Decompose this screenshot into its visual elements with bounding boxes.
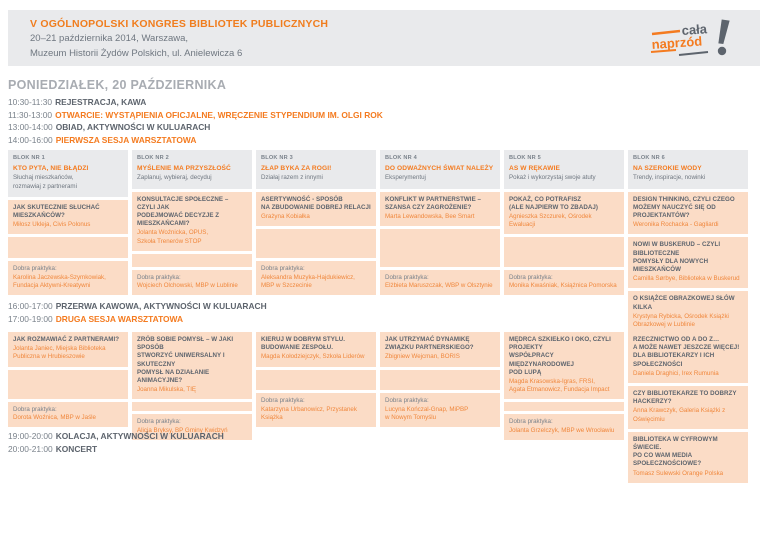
block-number: BLOK NR 5 — [509, 154, 619, 162]
good-practice-cell[interactable]: Dobra praktyka:Lucyna Kończal-Gnap, MiPB… — [380, 393, 500, 427]
session-cell[interactable]: ASERTYWNOŚĆ - SPOSÓBNA ZBUDOWANIE DOBREJ… — [256, 192, 376, 227]
session-presenter: Miłosz Ukleja, Civis Polonus — [13, 221, 123, 229]
block-column: BLOK NR 6NA SZEROKIE WODYTrendy, inspira… — [628, 150, 748, 295]
block-header: BLOK NR 2MYŚLENIE MA PRZYSZŁOŚĆZaplanuj,… — [132, 150, 252, 189]
session-cell[interactable]: JAK UTRZYMAĆ DYNAMIKĘZWIĄZKU PARTNERSKIE… — [380, 332, 500, 367]
schedule-row: 11:30-13:00OTWARCIE: WYSTĄPIENIA OFICJAL… — [8, 109, 383, 122]
good-practice-presenter: Katarzyna Urbanowicz, Przystanek Książka — [261, 406, 371, 422]
session-presenter: Magda Kołodziejczyk, Szkoła Liderów — [261, 353, 371, 361]
good-practice-label: Dobra praktyka: — [261, 397, 371, 405]
session-title: KIERUJ W DOBRYM STYLU.BUDOWANIE ZESPOŁU. — [261, 336, 371, 352]
session-one-grid: BLOK NR 1KTO PYTA, NIE BŁĄDZISłuchaj mie… — [8, 150, 760, 295]
block-title: NA SZEROKIE WODY — [633, 165, 743, 173]
block-number: BLOK NR 1 — [13, 154, 123, 162]
session-title: JAK ROZMAWIAĆ Z PARTNERAMI? — [13, 336, 123, 344]
block-header: BLOK NR 6NA SZEROKIE WODYTrendy, inspira… — [628, 150, 748, 189]
good-practice-label: Dobra praktyka: — [261, 265, 371, 273]
good-practice-presenter: Karolina Jaczewska-Szymkowiak,Fundacja A… — [13, 274, 123, 290]
block-column: KIERUJ W DOBRYM STYLU.BUDOWANIE ZESPOŁU.… — [256, 332, 376, 427]
schedule-list-afternoon: 16:00-17:00PRZERWA KAWOWA, AKTYWNOŚCI W … — [8, 300, 267, 325]
session-title: JAK UTRZYMAĆ DYNAMIKĘZWIĄZKU PARTNERSKIE… — [385, 336, 495, 352]
session-cell[interactable]: CZY BIBLIOTEKARZE TO DOBRZY HACKERZY?Ann… — [628, 386, 748, 429]
cell-spacer — [132, 402, 252, 411]
cell-spacer — [132, 254, 252, 267]
schedule-time: 19:00-20:00 — [8, 431, 53, 441]
session-cell[interactable]: KONFLIKT W PARTNERSTWIE –SZANSA CZY ZAGR… — [380, 192, 500, 227]
block-title: DO ODWAŻNYCH ŚWIAT NALEŻY — [385, 165, 495, 173]
schedule-time: 16:00-17:00 — [8, 301, 53, 311]
session-title: ASERTYWNOŚĆ - SPOSÓBNA ZBUDOWANIE DOBREJ… — [261, 196, 371, 212]
day-heading: PONIEDZIAŁEK, 20 PAŹDZIERNIKA — [8, 78, 226, 92]
cell-spacer — [504, 237, 624, 266]
session-title: KONFLIKT W PARTNERSTWIE –SZANSA CZY ZAGR… — [385, 196, 495, 212]
session-presenter: Joanna Mikulska, TIĘ — [137, 386, 247, 394]
cell-spacer — [8, 237, 128, 258]
cell-spacer — [380, 370, 500, 391]
session-title: KONSULTACJE SPOŁECZNE – CZYLI JAKPODEJMO… — [137, 196, 247, 229]
good-practice-label: Dobra praktyka: — [13, 265, 123, 273]
session-cell[interactable]: ZRÓB SOBIE POMYSŁ – W JAKI SPOSÓBSTWORZY… — [132, 332, 252, 399]
block-header: BLOK NR 5AS W RĘKAWIEPokaż i wykorzystaj… — [504, 150, 624, 189]
block-column: BLOK NR 1KTO PYTA, NIE BŁĄDZISłuchaj mie… — [8, 150, 128, 295]
good-practice-cell[interactable]: Dobra praktyka:Elżbieta Maruszczak, WBP … — [380, 270, 500, 295]
cala-naprzod-logo: cała naprzód — [646, 18, 738, 60]
schedule-time: 14:00-16:00 — [8, 135, 53, 145]
good-practice-presenter: Dorota Woźnica, MBP w Jaśle — [13, 414, 123, 422]
session-title: JAK SKUTECZNIE SŁUCHAĆMIESZKAŃCÓW? — [13, 204, 123, 220]
block-column: MĘDRCA SZKIEŁKO I OKO, CZYLI PROJEKTYWSP… — [504, 332, 624, 427]
block-title: ZŁAP BYKA ZA ROGI! — [261, 165, 371, 173]
good-practice-cell[interactable]: Dobra praktyka:Monika Kwaśniak, Książnic… — [504, 270, 624, 295]
schedule-label: PIERWSZA SESJA WARSZTATOWA — [56, 135, 197, 145]
page-header: V OGÓLNOPOLSKI KONGRES BIBLIOTEK PUBLICZ… — [8, 10, 760, 66]
good-practice-cell[interactable]: Dobra praktyka:Jolanta Grzelczyk, MBP we… — [504, 414, 624, 439]
schedule-label: REJESTRACJA, KAWA — [55, 97, 146, 107]
good-practice-label: Dobra praktyka: — [385, 397, 495, 405]
good-practice-cell[interactable]: Dobra praktyka:Wojciech Olchowski, MBP w… — [132, 270, 252, 295]
block-title: MYŚLENIE MA PRZYSZŁOŚĆ — [137, 165, 247, 173]
schedule-row: 10:30-11:30REJESTRACJA, KAWA — [8, 96, 383, 109]
block-description: Trendy, inspiracje, nowinki — [633, 174, 743, 182]
good-practice-cell[interactable]: Dobra praktyka:Aleksandra Muzyka-Hajduki… — [256, 261, 376, 295]
session-title: MĘDRCA SZKIEŁKO I OKO, CZYLI PROJEKTYWSP… — [509, 336, 619, 377]
session-cell[interactable]: JAK SKUTECZNIE SŁUCHAĆMIESZKAŃCÓW?Miłosz… — [8, 200, 128, 235]
session-cell[interactable]: RZECZNICTWO OD A DO Z…A MOŻE NAWET JESZC… — [628, 332, 748, 383]
session-presenter: Zbigniew Wejcman, BORIS — [385, 353, 495, 361]
session-cell[interactable]: BIBLIOTEKA W CYFROWYM ŚWIECIE.PO CO WAM … — [628, 432, 748, 483]
good-practice-presenter: Aleksandra Muzyka-Hajdukiewicz,MBP w Szc… — [261, 274, 371, 290]
block-title: KTO PYTA, NIE BŁĄDZI — [13, 165, 123, 173]
session-cell[interactable]: MĘDRCA SZKIEŁKO I OKO, CZYLI PROJEKTYWSP… — [504, 332, 624, 399]
schedule-time: 13:00-14:00 — [8, 122, 53, 132]
session-cell[interactable]: KIERUJ W DOBRYM STYLU.BUDOWANIE ZESPOŁU.… — [256, 332, 376, 367]
session-cell[interactable]: KONSULTACJE SPOŁECZNE – CZYLI JAKPODEJMO… — [132, 192, 252, 251]
cell-spacer — [504, 402, 624, 411]
session-title: DESIGN THINKING, CZYLI CZEGOMOŻEMY NAUCZ… — [633, 196, 743, 221]
block-description: Pokaż i wykorzystaj swoje atuty — [509, 174, 619, 182]
block-title: AS W RĘKAWIE — [509, 165, 619, 173]
session-title: CZY BIBLIOTEKARZE TO DOBRZY HACKERZY? — [633, 390, 743, 406]
block-column: RZECZNICTWO OD A DO Z…A MOŻE NAWET JESZC… — [628, 332, 748, 427]
schedule-list-morning: 10:30-11:30REJESTRACJA, KAWA11:30-13:00O… — [8, 96, 383, 146]
session-presenter: Magda Krasowska-Igras, FRSI,Agata Etmano… — [509, 378, 619, 394]
block-number: BLOK NR 4 — [385, 154, 495, 162]
schedule-time: 10:30-11:30 — [8, 97, 52, 107]
schedule-row: 17:00-19:00DRUGA SESJA WARSZTATOWA — [8, 313, 267, 326]
session-title: NOWI W BUSKERUD – CZYLI BIBLIOTECZNEPOMY… — [633, 241, 743, 274]
session-presenter: Marta Lewandowska, Bee Smart — [385, 213, 495, 221]
good-practice-label: Dobra praktyka: — [13, 406, 123, 414]
cell-spacer — [256, 229, 376, 258]
session-title: RZECZNICTWO OD A DO Z…A MOŻE NAWET JESZC… — [633, 336, 743, 369]
schedule-time: 11:30-13:00 — [8, 110, 52, 120]
session-title: BIBLIOTEKA W CYFROWYM ŚWIECIE.PO CO WAM … — [633, 436, 743, 469]
good-practice-label: Dobra praktyka: — [137, 418, 247, 426]
session-presenter: Anna Krawczyk, Galeria Książki z Oświęci… — [633, 407, 743, 423]
cell-spacer — [380, 229, 500, 266]
session-title: O KSIĄŻCE OBRAZKOWEJ SŁÓW KILKA — [633, 295, 743, 311]
svg-text:naprzód: naprzód — [651, 33, 703, 51]
block-number: BLOK NR 3 — [261, 154, 371, 162]
schedule-label: KONCERT — [56, 444, 97, 454]
block-header: BLOK NR 4DO ODWAŻNYCH ŚWIAT NALEŻYEksper… — [380, 150, 500, 189]
session-presenter: Daniela Draghici, Irex Rumunia — [633, 370, 743, 378]
good-practice-label: Dobra praktyka: — [509, 274, 619, 282]
schedule-time: 20:00-21:00 — [8, 444, 53, 454]
schedule-row: 14:00-16:00PIERWSZA SESJA WARSZTATOWA — [8, 134, 383, 147]
session-presenter: Krystyna Rybicka, Ośrodek KsiążkiObrazko… — [633, 313, 743, 329]
schedule-row: 19:00-20:00KOLACJA, AKTYWNOŚCI W KULUARA… — [8, 430, 224, 443]
good-practice-label: Dobra praktyka: — [137, 274, 247, 282]
schedule-time: 17:00-19:00 — [8, 314, 53, 324]
session-two-grid: JAK ROZMAWIAĆ Z PARTNERAMI?Jolanta Janie… — [8, 332, 760, 427]
block-column: BLOK NR 4DO ODWAŻNYCH ŚWIAT NALEŻYEksper… — [380, 150, 500, 295]
schedule-label: KOLACJA, AKTYWNOŚCI W KULUARACH — [56, 431, 224, 441]
good-practice-presenter: Elżbieta Maruszczak, WBP w Olsztynie — [385, 282, 495, 290]
good-practice-cell[interactable]: Dobra praktyka:Karolina Jaczewska-Szymko… — [8, 261, 128, 295]
schedule-label: OTWARCIE: WYSTĄPIENIA OFICJALNE, WRĘCZEN… — [55, 110, 383, 120]
good-practice-label: Dobra praktyka: — [509, 418, 619, 426]
block-number: BLOK NR 2 — [137, 154, 247, 162]
block-column: JAK ROZMAWIAĆ Z PARTNERAMI?Jolanta Janie… — [8, 332, 128, 427]
session-presenter: Grażyna Kobiałka — [261, 213, 371, 221]
session-presenter: Weronika Rochacka - Gagliardi — [633, 221, 743, 229]
block-column: BLOK NR 2MYŚLENIE MA PRZYSZŁOŚĆZaplanuj,… — [132, 150, 252, 295]
block-header: BLOK NR 3ZŁAP BYKA ZA ROGI!Działaj razem… — [256, 150, 376, 189]
block-description: Słuchaj mieszkańców,rozmawiaj z partnera… — [13, 174, 123, 190]
block-number: BLOK NR 6 — [633, 154, 743, 162]
block-description: Działaj razem z innymi — [261, 174, 371, 182]
session-cell[interactable]: JAK ROZMAWIAĆ Z PARTNERAMI?Jolanta Janie… — [8, 332, 128, 367]
good-practice-presenter: Lucyna Kończal-Gnap, MiPBPw Nowym Tomyśl… — [385, 406, 495, 422]
schedule-label: DRUGA SESJA WARSZTATOWA — [56, 314, 183, 324]
good-practice-cell[interactable]: Dobra praktyka:Katarzyna Urbanowicz, Prz… — [256, 393, 376, 427]
block-column: JAK UTRZYMAĆ DYNAMIKĘZWIĄZKU PARTNERSKIE… — [380, 332, 500, 427]
session-presenter: Camilla Sørbye, Biblioteka w Buskerud — [633, 275, 743, 283]
session-presenter: Agnieszka Szczurek, Ośrodek Ewaluacji — [509, 213, 619, 229]
good-practice-cell[interactable]: Dobra praktyka:Dorota Woźnica, MBP w Jaś… — [8, 402, 128, 427]
block-header: BLOK NR 1KTO PYTA, NIE BŁĄDZISłuchaj mie… — [8, 150, 128, 197]
session-title: POKAŻ, CO POTRAFISZ(ALE NAJPIERW TO ZBAD… — [509, 196, 619, 212]
session-title: ZRÓB SOBIE POMYSŁ – W JAKI SPOSÓBSTWORZY… — [137, 336, 247, 385]
schedule-row: 13:00-14:00OBIAD, AKTYWNOŚCI W KULUARACH — [8, 121, 383, 134]
logo-graphic: cała naprzód — [646, 18, 738, 60]
session-cell[interactable]: O KSIĄŻCE OBRAZKOWEJ SŁÓW KILKAKrystyna … — [628, 291, 748, 334]
block-column: BLOK NR 5AS W RĘKAWIEPokaż i wykorzystaj… — [504, 150, 624, 295]
schedule-row: 16:00-17:00PRZERWA KAWOWA, AKTYWNOŚCI W … — [8, 300, 267, 313]
session-presenter: Jolanta Woźnicka, OPUS,Szkoła Trenerów S… — [137, 229, 247, 245]
schedule-row: 20:00-21:00KONCERT — [8, 443, 224, 456]
session-presenter: Jolanta Janiec, Miejska BibliotekaPublic… — [13, 345, 123, 361]
session-cell[interactable]: DESIGN THINKING, CZYLI CZEGOMOŻEMY NAUCZ… — [628, 192, 748, 235]
session-cell[interactable]: POKAŻ, CO POTRAFISZ(ALE NAJPIERW TO ZBAD… — [504, 192, 624, 235]
schedule-label: OBIAD, AKTYWNOŚCI W KULUARACH — [56, 122, 211, 132]
good-practice-label: Dobra praktyka: — [385, 274, 495, 282]
block-column: BLOK NR 3ZŁAP BYKA ZA ROGI!Działaj razem… — [256, 150, 376, 295]
cell-spacer — [256, 370, 376, 391]
cell-spacer — [8, 370, 128, 399]
good-practice-presenter: Wojciech Olchowski, MBP w Lublinie — [137, 282, 247, 290]
schedule-page: V OGÓLNOPOLSKI KONGRES BIBLIOTEK PUBLICZ… — [0, 0, 768, 543]
good-practice-presenter: Jolanta Grzelczyk, MBP we Wrocławiu — [509, 427, 619, 435]
schedule-list-evening: 19:00-20:00KOLACJA, AKTYWNOŚCI W KULUARA… — [8, 430, 224, 455]
good-practice-presenter: Monika Kwaśniak, Książnica Pomorska — [509, 282, 619, 290]
block-description: Zaplanuj, wybieraj, decyduj — [137, 174, 247, 182]
session-cell[interactable]: NOWI W BUSKERUD – CZYLI BIBLIOTECZNEPOMY… — [628, 237, 748, 288]
block-description: Eksperymentuj — [385, 174, 495, 182]
block-column: ZRÓB SOBIE POMYSŁ – W JAKI SPOSÓBSTWORZY… — [132, 332, 252, 427]
schedule-label: PRZERWA KAWOWA, AKTYWNOŚCI W KULUARACH — [56, 301, 267, 311]
session-presenter: Tomasz Sulewski Orange Polska — [633, 470, 743, 478]
